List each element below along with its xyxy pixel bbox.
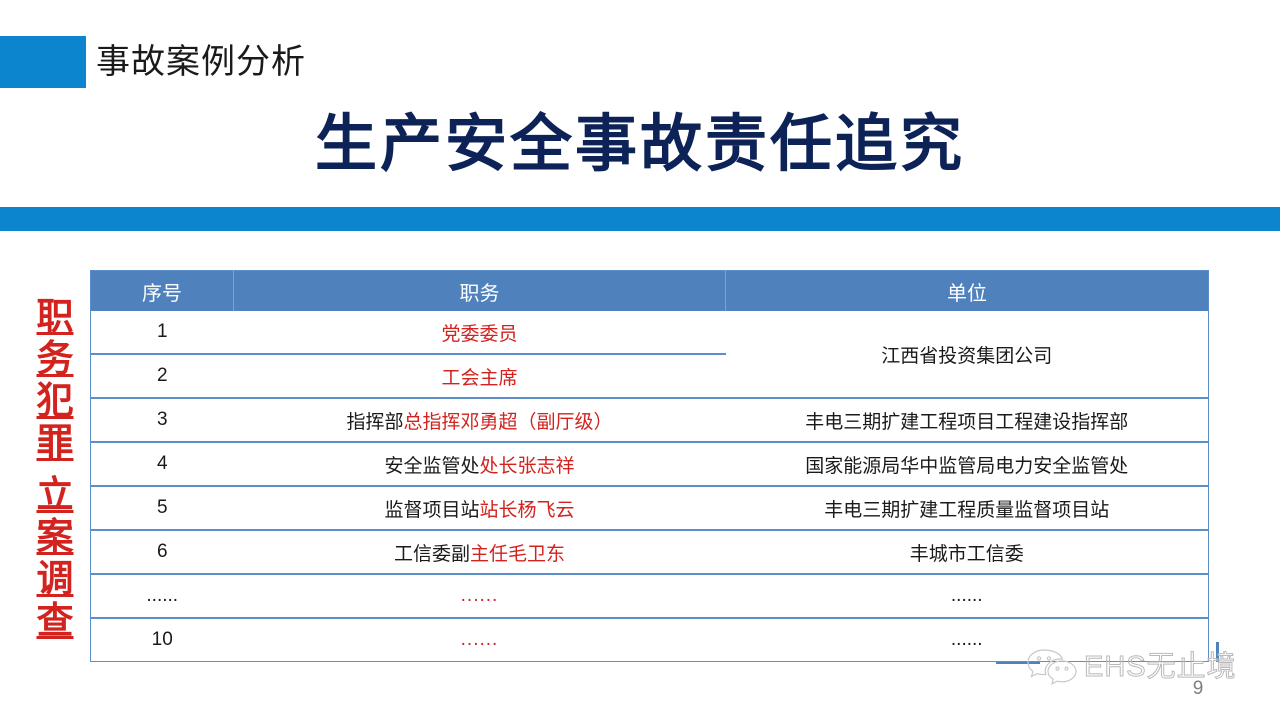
cell-title-name: 站长杨飞云	[480, 500, 575, 521]
cell-title-prefix: 指挥部	[346, 412, 403, 433]
cell-seq: 10	[91, 618, 234, 662]
divider-bar	[0, 207, 1280, 231]
slide-title: 生产安全事故责任追究	[0, 104, 1280, 186]
cell-seq: 2	[91, 354, 234, 398]
cell-org: ......	[726, 574, 1209, 618]
side-label-char: 犯	[26, 380, 84, 422]
table-row: 1党委委员江西省投资集团公司	[91, 311, 1209, 354]
table-row: 5监督项目站站长杨飞云丰电三期扩建工程质量监督项目站	[91, 486, 1209, 530]
cell-org: 丰电三期扩建工程项目工程建设指挥部	[726, 398, 1209, 442]
roster-table: 序号 职务 单位 1党委委员江西省投资集团公司2工会主席3指挥部总指挥邓勇超（副…	[90, 270, 1209, 662]
cell-org: 丰电三期扩建工程质量监督项目站	[726, 486, 1209, 530]
cell-title-prefix: 监督项目站	[384, 500, 479, 521]
header-kicker-label: 事故案例分析	[96, 36, 306, 88]
cell-title-prefix: 工信委副	[394, 544, 470, 565]
cell-title: 安全监管处处长张志祥	[234, 442, 726, 486]
table-header-row: 序号 职务 单位	[91, 271, 1209, 312]
side-label-char: 立	[26, 474, 84, 516]
page-number: 9	[1186, 678, 1210, 700]
cell-org: 丰城市工信委	[726, 530, 1209, 574]
side-label-char: 案	[26, 516, 84, 558]
side-label-gap	[26, 464, 84, 474]
cell-seq: 1	[91, 311, 234, 354]
cell-org: ......	[726, 618, 1209, 662]
side-label-vertical: 职务犯罪立案调查	[26, 296, 84, 642]
cell-title: 指挥部总指挥邓勇超（副厅级）	[234, 398, 726, 442]
cell-seq: 5	[91, 486, 234, 530]
side-label-char: 务	[26, 338, 84, 380]
cell-title-name: ......	[461, 629, 499, 650]
column-header-title: 职务	[234, 271, 726, 312]
cell-seq: 6	[91, 530, 234, 574]
header-accent-block	[0, 36, 86, 88]
table-row: 3指挥部总指挥邓勇超（副厅级）丰电三期扩建工程项目工程建设指挥部	[91, 398, 1209, 442]
table-row: ..................	[91, 574, 1209, 618]
cell-title-name: 党委委员	[441, 324, 517, 345]
cell-title-prefix: 安全监管处	[384, 456, 479, 477]
cell-title-name: 总指挥邓勇超（副厅级）	[404, 412, 613, 433]
side-label-char: 调	[26, 558, 84, 600]
table-row: 4安全监管处处长张志祥国家能源局华中监管局电力安全监管处	[91, 442, 1209, 486]
watermark-rule	[996, 662, 1040, 664]
cell-title: ......	[234, 574, 726, 618]
cell-title: ......	[234, 618, 726, 662]
cell-title-name: 工会主席	[441, 368, 517, 389]
table-header: 序号 职务 单位	[91, 271, 1209, 312]
slide-header: 事故案例分析	[0, 0, 1280, 110]
table-body: 1党委委员江西省投资集团公司2工会主席3指挥部总指挥邓勇超（副厅级）丰电三期扩建…	[91, 311, 1209, 662]
table-row: 10............	[91, 618, 1209, 662]
cell-seq: 3	[91, 398, 234, 442]
cell-seq: ......	[91, 574, 234, 618]
cell-seq: 4	[91, 442, 234, 486]
cell-title: 工信委副主任毛卫东	[234, 530, 726, 574]
side-label-char: 罪	[26, 422, 84, 464]
table-row: 6工信委副主任毛卫东丰城市工信委	[91, 530, 1209, 574]
side-label-char: 查	[26, 600, 84, 642]
cell-title: 监督项目站站长杨飞云	[234, 486, 726, 530]
cell-title-name: 主任毛卫东	[470, 544, 565, 565]
cell-org: 国家能源局华中监管局电力安全监管处	[726, 442, 1209, 486]
watermark-tick	[1216, 642, 1219, 662]
side-label-char: 职	[26, 296, 84, 338]
cell-title: 党委委员	[234, 311, 726, 354]
cell-org: 江西省投资集团公司	[726, 311, 1209, 398]
cell-title: 工会主席	[234, 354, 726, 398]
column-header-seq: 序号	[91, 271, 234, 312]
cell-title-name: ......	[461, 585, 499, 606]
column-header-org: 单位	[726, 271, 1209, 312]
cell-title-name: 处长张志祥	[480, 456, 575, 477]
